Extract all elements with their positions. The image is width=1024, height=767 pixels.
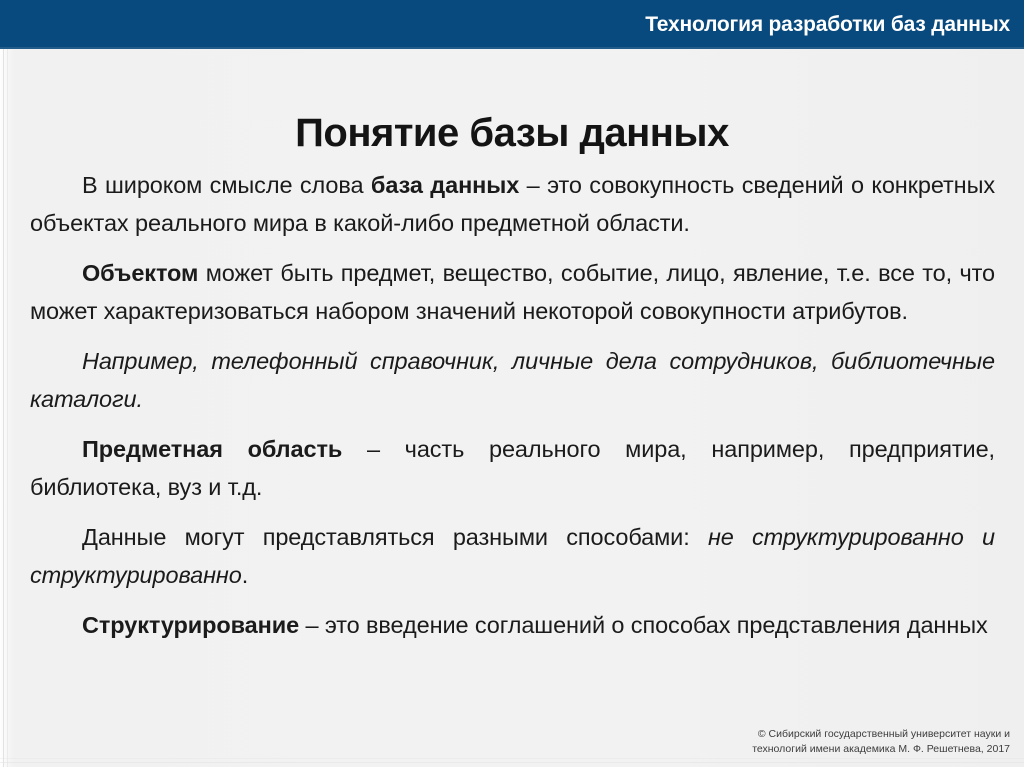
slide-header-bar: Технология разработки баз данных <box>0 0 1024 49</box>
slide-edge-artifact <box>0 762 1024 763</box>
text-run: – это введение соглашений о способах пре… <box>299 612 988 638</box>
slide-edge-artifact <box>0 758 1024 759</box>
copyright-line-2: технологий имени академика М. Ф. Решетне… <box>540 742 1010 757</box>
text-run: Предметная область <box>82 436 342 462</box>
text-run: Например, телефонный справочник, личные … <box>30 348 995 412</box>
text-run: Объектом <box>82 260 198 286</box>
page-title: Понятие базы данных <box>0 111 1024 156</box>
paragraph-definition-database: В широком смысле слова база данных – это… <box>30 166 995 242</box>
text-run: Структурирование <box>82 612 299 638</box>
copyright-line-1: © Сибирский государственный университет … <box>540 727 1010 742</box>
copyright-footer: © Сибирский государственный университет … <box>540 727 1010 757</box>
paragraph-definition-subject-area: Предметная область – часть реального мир… <box>30 430 995 506</box>
course-title: Технология разработки баз данных <box>645 13 1010 37</box>
presentation-slide: Технология разработки баз данных Понятие… <box>0 0 1024 767</box>
paragraph-data-representation: Данные могут представляться разными спос… <box>30 518 995 594</box>
text-run: база данных <box>371 172 519 198</box>
text-run: . <box>242 562 248 588</box>
text-run: Данные могут представляться разными спос… <box>82 524 708 550</box>
text-run: В широком смысле слова <box>82 172 371 198</box>
paragraph-example-list: Например, телефонный справочник, личные … <box>30 342 995 418</box>
slide-body: В широком смысле слова база данных – это… <box>30 166 995 644</box>
paragraph-definition-structuring: Структурирование – это введение соглашен… <box>30 606 995 644</box>
paragraph-definition-object: Объектом может быть предмет, вещество, с… <box>30 254 995 330</box>
